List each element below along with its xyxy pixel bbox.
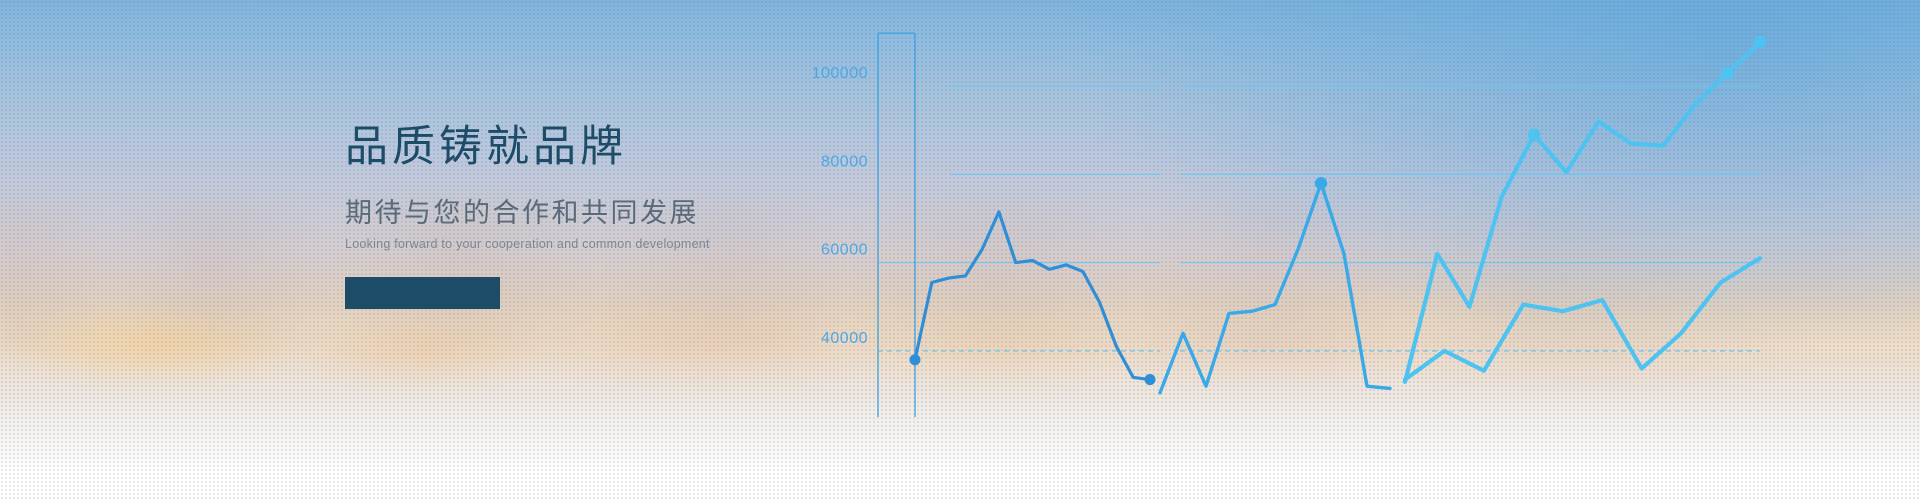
chart-line-series-3 [1405, 42, 1760, 382]
y-axis-tick-label: 100000 [812, 65, 868, 82]
y-axis-tick-label: 40000 [821, 330, 868, 347]
chart-line-series-2 [1160, 183, 1390, 393]
chart-point-marker [910, 354, 921, 365]
y-axis-tick-label: 80000 [821, 153, 868, 170]
chart-series [915, 42, 1760, 393]
page-subtitle: 期待与您的合作和共同发展 [345, 191, 765, 230]
chart-canvas: 400006000080000100000 [760, 0, 1920, 420]
chart-point-marker [1754, 36, 1766, 48]
hero-banner: 品质铸就品牌 期待与您的合作和共同发展 Looking forward to y… [0, 0, 1920, 500]
chart-point-marker [1145, 374, 1156, 385]
chart-point-marker [1722, 67, 1734, 79]
page-tagline: Looking forward to your cooperation and … [345, 237, 765, 251]
chart-line-series-1 [915, 212, 1150, 380]
line-chart: 400006000080000100000 [760, 0, 1920, 420]
cta-button[interactable] [345, 277, 500, 309]
chart-point-marker [1315, 177, 1327, 189]
chart-axis [878, 33, 915, 417]
chart-gridlines [878, 86, 1760, 351]
chart-y-axis-labels: 400006000080000100000 [812, 65, 868, 347]
page-title: 品质铸就品牌 [345, 122, 765, 174]
y-axis-tick-label: 60000 [821, 242, 868, 259]
chart-line-series-4 [1405, 258, 1760, 379]
chart-markers [910, 36, 1767, 385]
chart-point-marker [1528, 129, 1540, 141]
hero-copy-block: 品质铸就品牌 期待与您的合作和共同发展 Looking forward to y… [345, 122, 765, 309]
